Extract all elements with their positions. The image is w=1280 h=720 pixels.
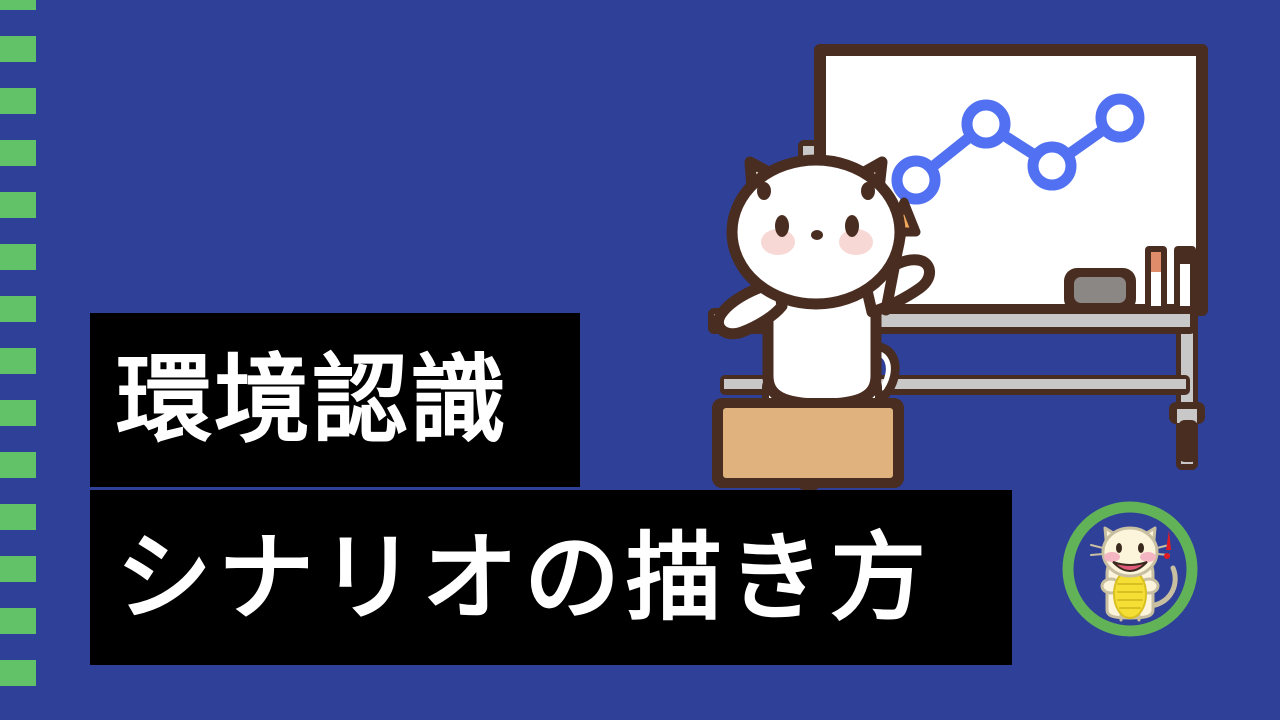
page-title-line-2: シナリオの描き方 [116, 530, 932, 626]
stripe-segment [0, 608, 36, 634]
cat-eye-right [845, 215, 859, 237]
mascot-eye-right [1138, 543, 1144, 553]
stripe-segment [0, 140, 36, 166]
stripe-segment [0, 556, 36, 582]
stripe-segment [0, 244, 36, 270]
diagonal-stripe-band [0, 0, 36, 720]
marker-red-icon [1145, 246, 1167, 312]
exclamation-icon [1164, 530, 1171, 559]
mascot-eye-left [1116, 543, 1122, 553]
page-title-line-1: 環境認識 [116, 352, 508, 448]
stripe-segment [0, 0, 36, 10]
wooden-box [712, 398, 904, 488]
cat-mascot-badge [1055, 494, 1205, 644]
title-block-secondary: シナリオの描き方 [90, 490, 1012, 665]
poster-canvas: 環境認識 シナリオの描き方 [0, 0, 1280, 720]
title-block-primary: 環境認識 [90, 313, 580, 487]
marker-white-icon [1174, 246, 1196, 312]
stripe-segment [0, 36, 36, 62]
cat-nose [811, 230, 823, 240]
stripe-segment [0, 88, 36, 114]
stripe-segment [0, 348, 36, 374]
stripe-segment [0, 660, 36, 686]
cat-presenting-whiteboard-illustration [690, 20, 1250, 490]
cat-head [732, 160, 900, 304]
stripe-segment [0, 452, 36, 478]
stripe-segment [0, 296, 36, 322]
stripe-segment [0, 504, 36, 530]
eraser-icon [1064, 268, 1136, 312]
stripe-segment [0, 192, 36, 218]
stripe-segment [0, 400, 36, 426]
cat-eye-left [775, 215, 789, 237]
